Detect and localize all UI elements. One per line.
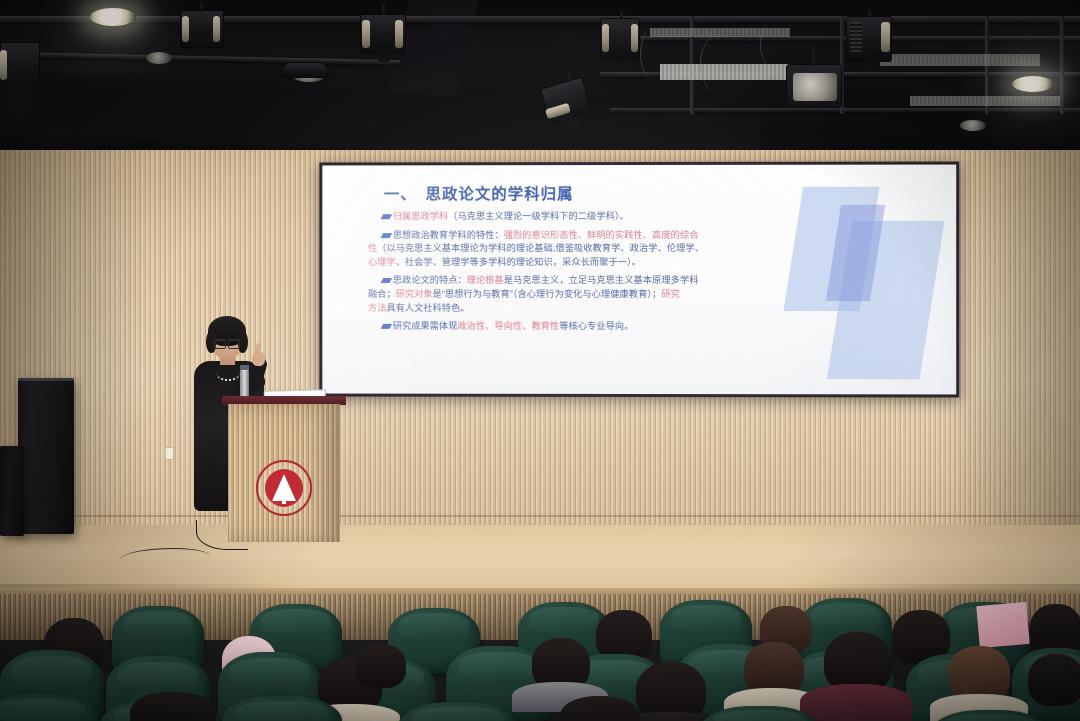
glasses — [214, 339, 240, 346]
arrow-marker-icon — [381, 324, 393, 329]
audience-head — [1030, 604, 1080, 654]
wall-outlet — [165, 447, 174, 460]
slide-content: 一、思政论文的学科归属 归属思政学科（马克思主义理论一级学科下的二级学科）。 思… — [322, 165, 956, 395]
projection-screen: 一、思政论文的学科归属 归属思政学科（马克思主义理论一级学科下的二级学科）。 思… — [319, 162, 959, 398]
slide-title: 一、思政论文的学科归属 — [384, 182, 574, 204]
slide-title-text: 思政论文的学科归属 — [426, 186, 574, 203]
ceiling — [0, 0, 1080, 165]
slide-title-number: 一、 — [384, 186, 417, 203]
slide-bullet-line: 心理学、社会学、管理学等多学科的理论知识，采众长而聚于一）。 — [368, 256, 837, 270]
ceiling-downlight — [90, 8, 136, 26]
university-emblem-icon — [256, 460, 312, 516]
water-bottle — [240, 370, 249, 398]
lecture-hall-photo: 一、思政论文的学科归属 归属思政学科（马克思主义理论一级学科下的二级学科）。 思… — [0, 0, 1080, 721]
subwoofer-speaker — [0, 446, 24, 536]
slide-bullet-line: 方法具有人文社科特色。 — [368, 301, 837, 315]
stage-light-fixture — [178, 2, 226, 54]
pearl-necklace — [216, 365, 240, 381]
slide-bullet-line: 归属思政学科（马克思主义理论一级学科下的二级学科）。 — [368, 210, 837, 224]
arrow-marker-icon — [381, 233, 393, 238]
stage-light-fixture — [282, 62, 330, 90]
main-pa-speaker — [18, 378, 74, 534]
slide-bullet-list: 归属思政学科（马克思主义理论一级学科下的二级学科）。 思想政治教育学科的特性：强… — [368, 210, 837, 334]
ceiling-downlight — [1012, 76, 1054, 92]
audience-head — [824, 632, 892, 692]
ceiling-downlight — [146, 52, 172, 64]
projector — [786, 64, 842, 108]
stage-light-fixture — [358, 4, 408, 62]
slide-bullet-line: 研究成果需体现政治性、导向性、教育性等核心专业导向。 — [368, 320, 837, 334]
slide-bullet-line: 思政论文的特点：理论根基是马克思主义，立足马克思主义基本原理多学科 — [368, 274, 837, 288]
audience-area — [0, 584, 1080, 721]
held-paper — [976, 602, 1029, 648]
slide-bullet-line: 融合；研究对象是“思想行为与教育”（含心理行为变化与心理健康教育）；研究 — [368, 288, 837, 302]
ceiling-downlight — [960, 120, 986, 131]
audience-shoulders — [800, 684, 912, 721]
stage-light-fixture — [0, 42, 42, 120]
arrow-marker-icon — [381, 214, 393, 219]
audience-head — [1028, 654, 1080, 706]
audience-head — [356, 644, 406, 688]
arrow-marker-icon — [381, 278, 393, 283]
stage-light-fixture — [540, 70, 594, 132]
slide-bullet-line: 性（以马克思主义基本理论为学科的理论基础,借鉴吸收教育学、政治学、伦理学、 — [368, 242, 837, 256]
floor-cable — [120, 548, 210, 568]
slide-bullet-line: 思想政治教育学科的特性：强烈的意识形态性、鲜明的实践性、高度的综合 — [368, 228, 837, 242]
stage-light-fixture — [846, 10, 894, 72]
audience-head — [130, 692, 216, 721]
stage-light-fixture — [600, 12, 642, 68]
